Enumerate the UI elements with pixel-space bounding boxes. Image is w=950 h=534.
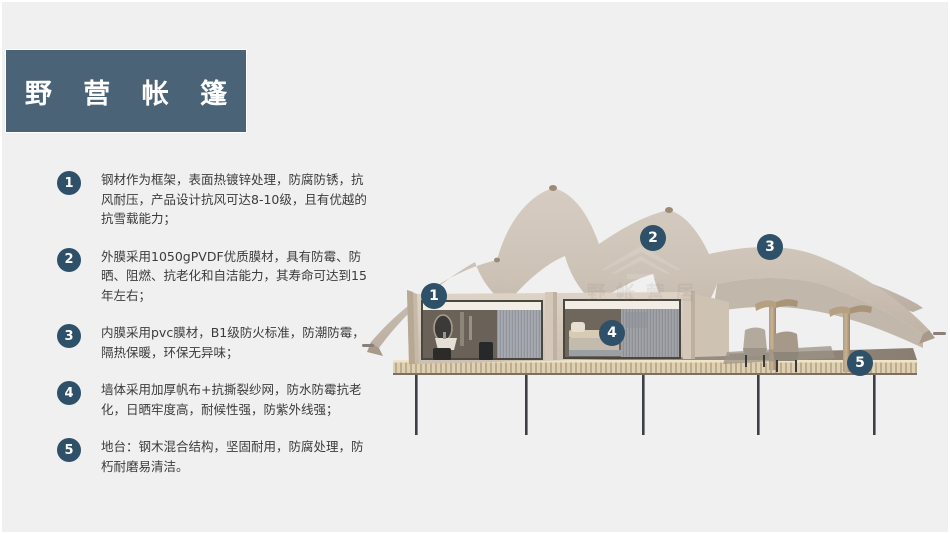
feature-text-3: 内膜采用pvc膜材，B1级防火标准，防潮防霉，隔热保暖，环保无异味； [101, 323, 369, 362]
page-title: 野 营 帐 篷 [14, 72, 238, 111]
page-title-banner: 野 营 帐 篷 [5, 49, 247, 133]
feature-badge-2: 2 [57, 248, 81, 272]
list-item: 3 内膜采用pvc膜材，B1级防火标准，防潮防霉，隔热保暖，环保无异味； [57, 323, 377, 362]
tent-graphic [357, 152, 950, 452]
feature-text-4: 墙体采用加厚帆布+抗撕裂纱网，防水防霉抗老化，日晒牢度高，耐候性强，防紫外线强； [101, 380, 369, 419]
feature-badge-4: 4 [57, 381, 81, 405]
photo-marker-1: 1 [421, 283, 447, 309]
photo-marker-3: 3 [757, 234, 783, 260]
feature-badge-1: 1 [57, 171, 81, 195]
feature-text-2: 外膜采用1050gPVDF优质膜材，具有防霉、防晒、阻燃、抗老化和自洁能力，其寿… [101, 247, 369, 306]
feature-text-5: 地台：钢木混合结构，坚固耐用，防腐处理，防朽耐磨易清洁。 [101, 437, 369, 476]
photo-marker-5: 5 [847, 350, 873, 376]
feature-badge-5: 5 [57, 438, 81, 462]
list-item: 2 外膜采用1050gPVDF优质膜材，具有防霉、防晒、阻燃、抗老化和自洁能力，… [57, 247, 377, 306]
list-item: 4 墙体采用加厚帆布+抗撕裂纱网，防水防霉抗老化，日晒牢度高，耐候性强，防紫外线… [57, 380, 377, 419]
feature-text-1: 钢材作为框架，表面热镀锌处理，防腐防锈，抗风耐压，产品设计抗风可达8-10级，且… [101, 170, 369, 229]
list-item: 5 地台：钢木混合结构，坚固耐用，防腐处理，防朽耐磨易清洁。 [57, 437, 377, 476]
tent-illustration: 野 帐 营 居 1 2 3 4 5 [357, 152, 950, 452]
photo-marker-4: 4 [599, 320, 625, 346]
photo-marker-2: 2 [640, 225, 666, 251]
feature-list: 1 钢材作为框架，表面热镀锌处理，防腐防锈，抗风耐压，产品设计抗风可达8-10级… [57, 170, 377, 492]
feature-badge-3: 3 [57, 324, 81, 348]
list-item: 1 钢材作为框架，表面热镀锌处理，防腐防锈，抗风耐压，产品设计抗风可达8-10级… [57, 170, 377, 229]
slide-root: 野 营 帐 篷 1 钢材作为框架，表面热镀锌处理，防腐防锈，抗风耐压，产品设计抗… [0, 0, 950, 534]
